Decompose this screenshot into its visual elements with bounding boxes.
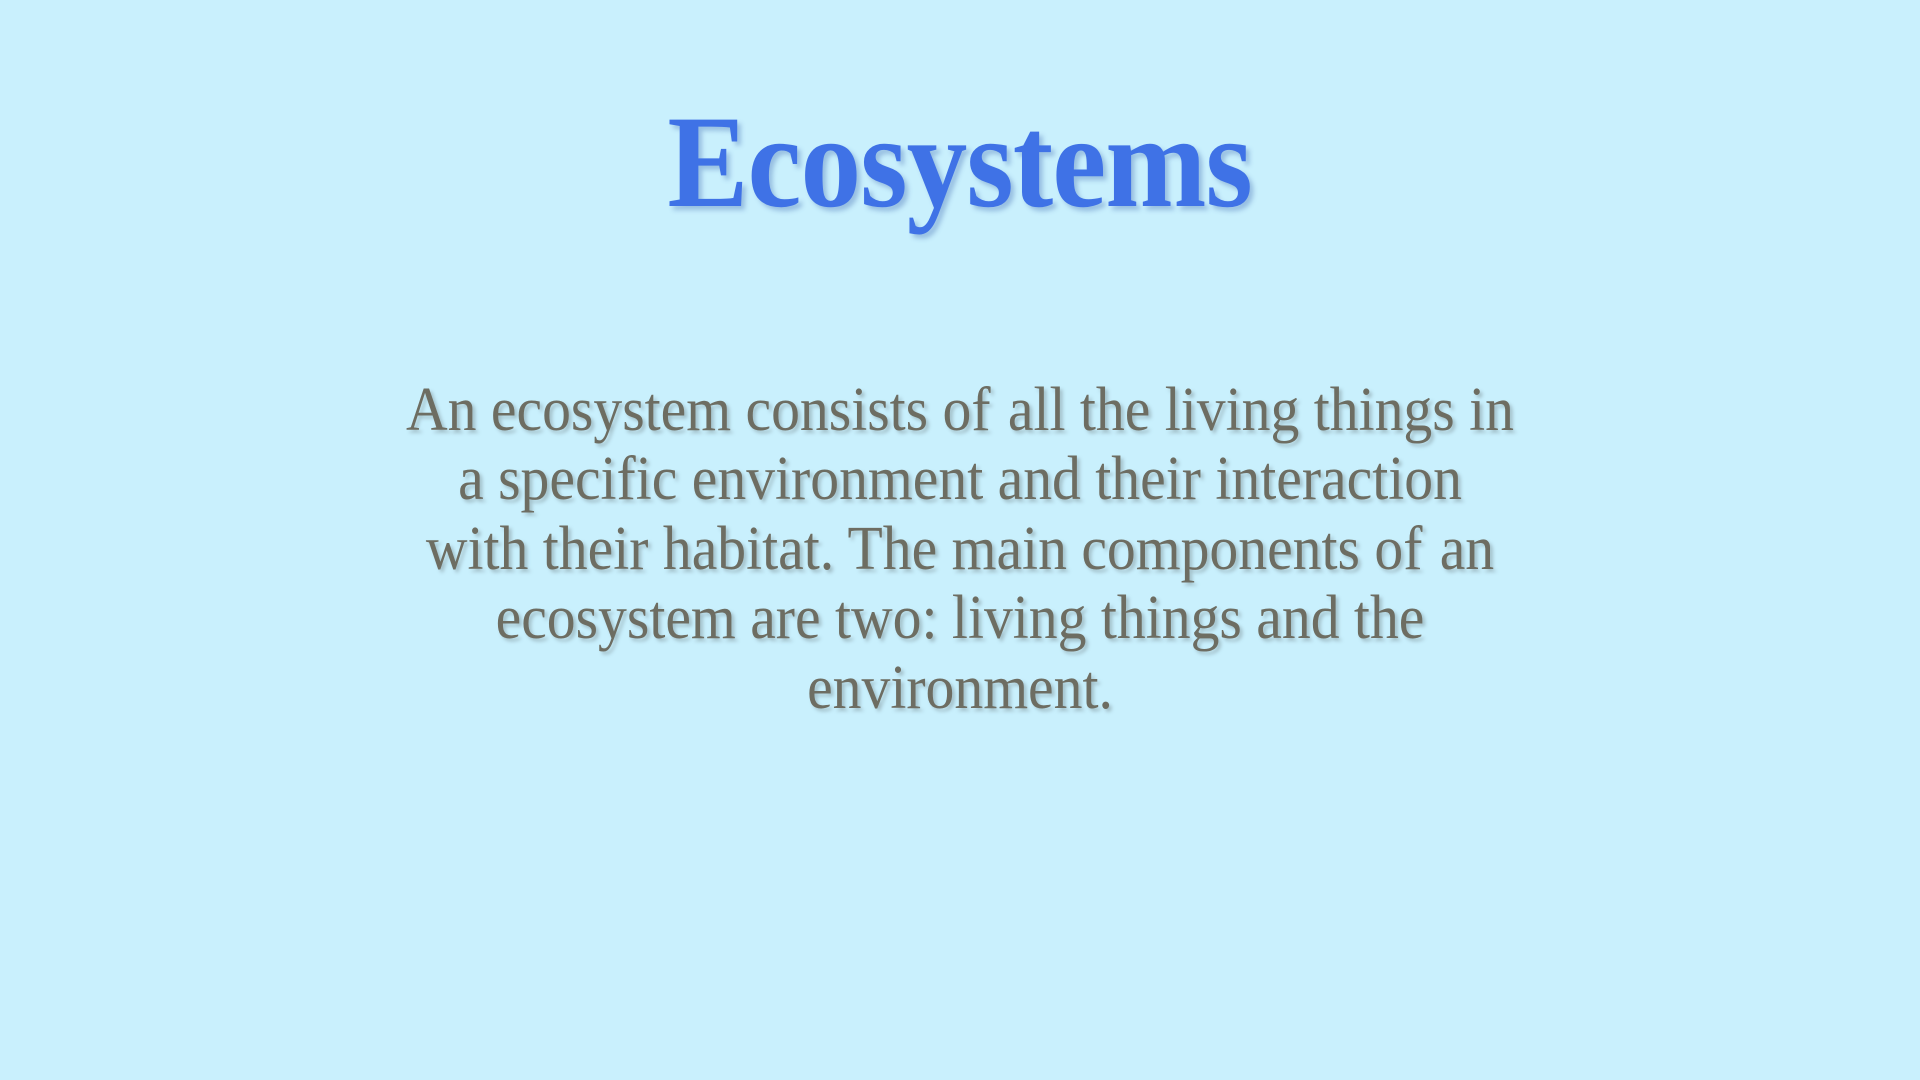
title-container: Ecosystems <box>0 96 1920 228</box>
body-container: An ecosystem consists ofall the living t… <box>200 376 1720 723</box>
body-line-segment: all the living things in <box>1008 376 1514 444</box>
body-text-line: a specific environment and their interac… <box>253 445 1667 514</box>
body-text-line: environment. <box>253 654 1667 723</box>
body-line-segment: an <box>1440 515 1494 583</box>
body-text-line: ecosystem are two: living things and the <box>253 584 1667 653</box>
body-text-line: An ecosystem consists ofall the living t… <box>253 376 1667 445</box>
body-text-line: with their habitat. The main components … <box>253 515 1667 584</box>
page-title: Ecosystems <box>668 96 1252 228</box>
body-line-segment: with their habitat. The main components … <box>426 515 1423 583</box>
body-paragraph: An ecosystem consists ofall the living t… <box>253 376 1667 723</box>
body-line-segment: An ecosystem consists of <box>406 376 991 444</box>
presentation-slide: Ecosystems An ecosystem consists ofall t… <box>0 0 1920 1080</box>
